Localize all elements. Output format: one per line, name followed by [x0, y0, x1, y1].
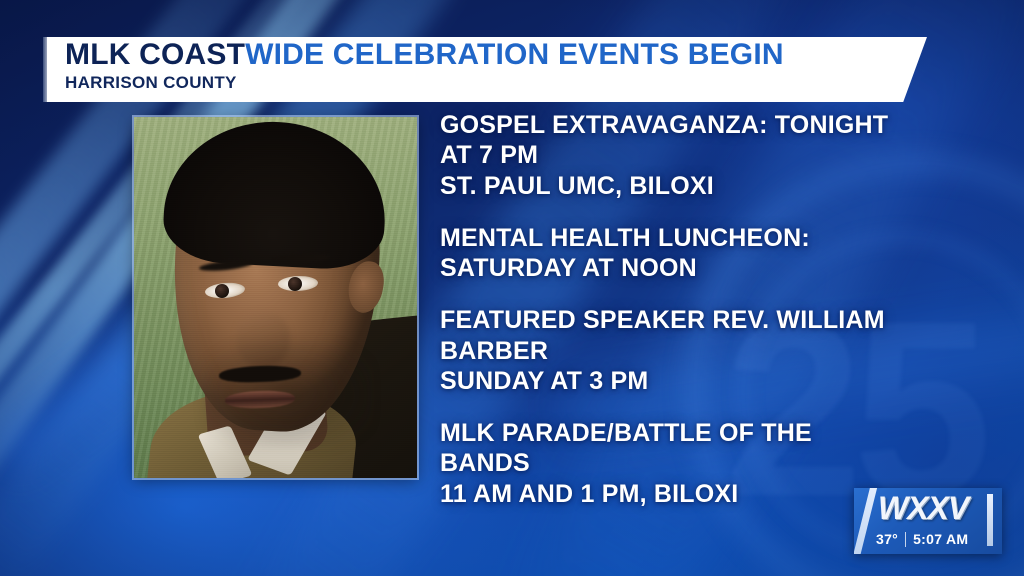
- headline-segment-primary: MLK COAST: [65, 38, 245, 71]
- event-line: SUNDAY AT 3 PM: [440, 366, 910, 396]
- event-line: BARBER: [440, 336, 910, 366]
- headline-segment-secondary: WIDE CELEBRATION EVENTS BEGIN: [245, 38, 784, 71]
- event-line: AT 7 PM: [440, 140, 910, 170]
- photo-grain-overlay: [134, 117, 417, 478]
- event-line: MENTAL HEALTH LUNCHEON:: [440, 223, 910, 253]
- logo-bar-icon: [987, 494, 993, 546]
- meta-separator: [905, 532, 906, 547]
- portrait-photo: [134, 117, 417, 478]
- clock-readout: 5:07 AM: [913, 531, 968, 547]
- event-line: MLK PARADE/BATTLE OF THE: [440, 418, 910, 448]
- event-list: GOSPEL EXTRAVAGANZA: TONIGHT AT 7 PM ST.…: [440, 110, 910, 509]
- headline-subtitle: HARRISON COUNTY: [65, 74, 927, 92]
- event-line: ST. PAUL UMC, BILOXI: [440, 171, 910, 201]
- event-line: BANDS: [440, 448, 910, 478]
- event-block: MLK PARADE/BATTLE OF THE BANDS 11 AM AND…: [440, 418, 910, 509]
- station-bug-meta: 37° 5:07 AM: [876, 531, 968, 547]
- broadcast-lower-third-screen: 25 MLK COASTWIDE CELEBRATION EVENTS BEGI…: [0, 0, 1024, 576]
- station-callsign: WXXV: [878, 490, 968, 527]
- event-line: FEATURED SPEAKER REV. WILLIAM: [440, 305, 910, 335]
- headline-banner: MLK COASTWIDE CELEBRATION EVENTS BEGIN H…: [47, 37, 927, 102]
- event-line: SATURDAY AT NOON: [440, 253, 910, 283]
- station-logo-bug: WXXV 37° 5:07 AM: [854, 488, 1002, 554]
- event-block: FEATURED SPEAKER REV. WILLIAM BARBER SUN…: [440, 305, 910, 396]
- event-block: MENTAL HEALTH LUNCHEON: SATURDAY AT NOON: [440, 223, 910, 284]
- event-block: GOSPEL EXTRAVAGANZA: TONIGHT AT 7 PM ST.…: [440, 110, 910, 201]
- event-line: 11 AM AND 1 PM, BILOXI: [440, 479, 910, 509]
- page-title: MLK COASTWIDE CELEBRATION EVENTS BEGIN: [65, 39, 927, 71]
- temperature-readout: 37°: [876, 531, 898, 547]
- event-line: GOSPEL EXTRAVAGANZA: TONIGHT: [440, 110, 910, 140]
